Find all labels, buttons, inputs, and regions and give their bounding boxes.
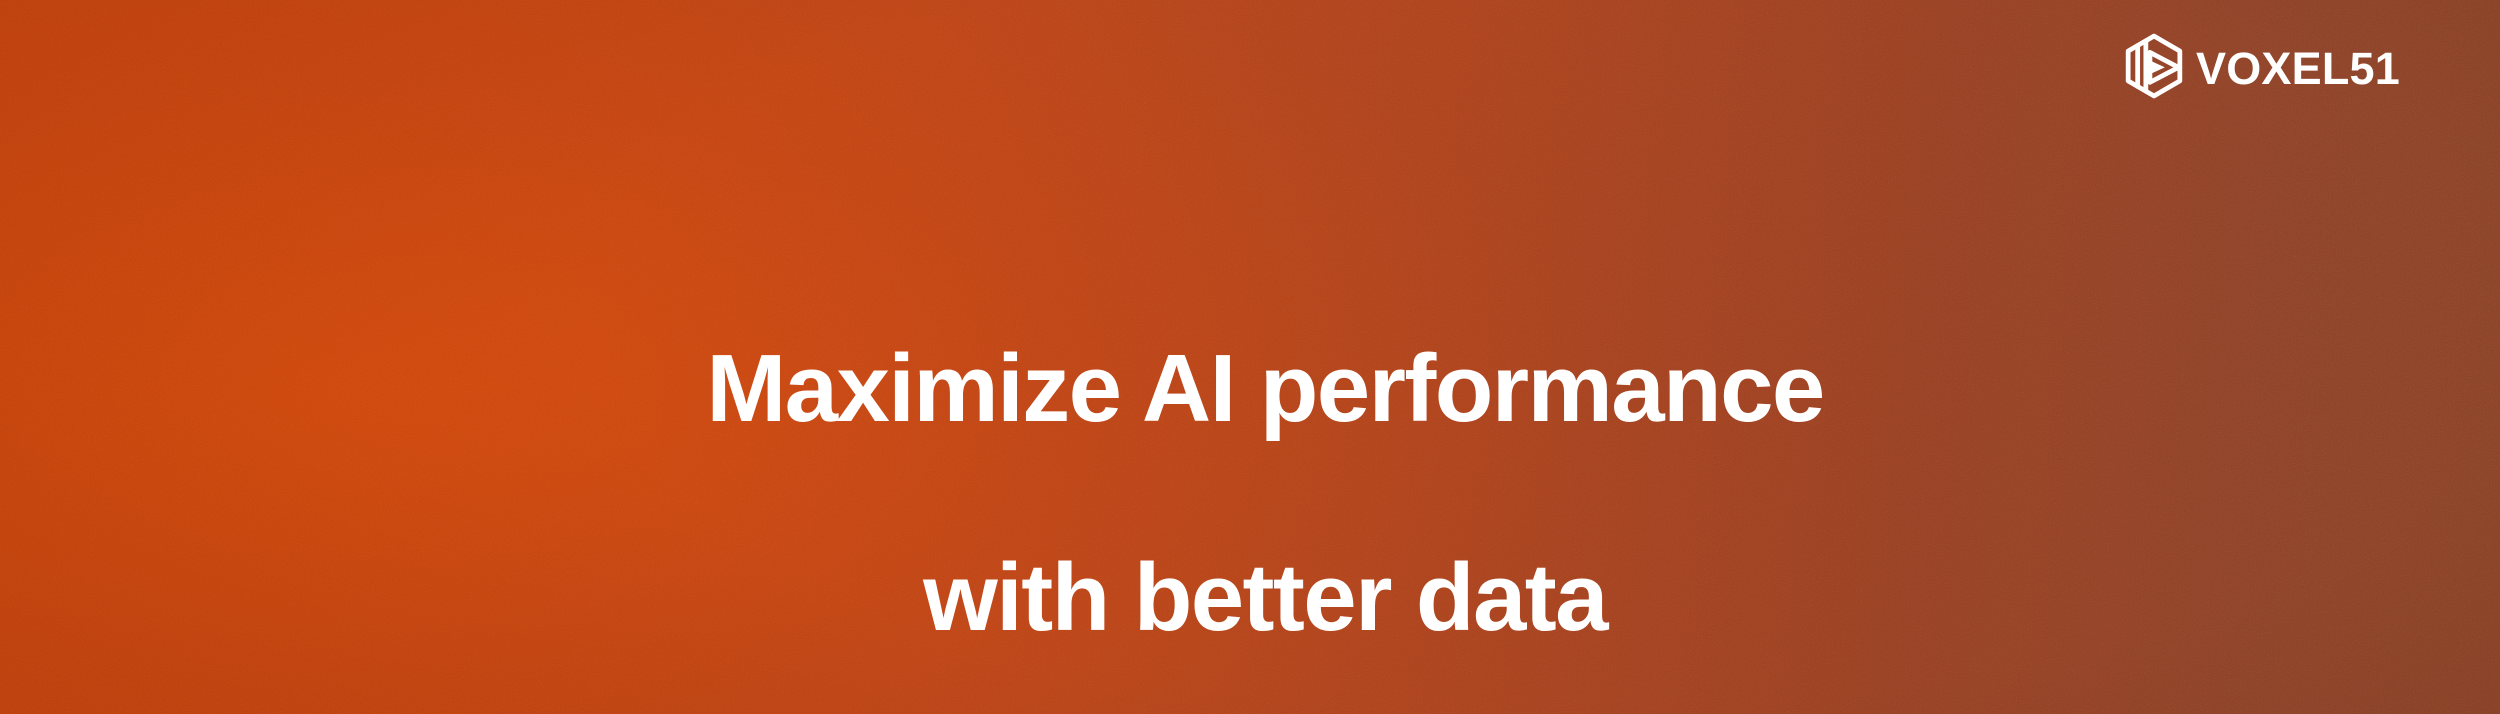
- headline: Maximize AI performance with better data: [0, 232, 2500, 714]
- headline-line-1: Maximize AI performance: [0, 337, 2500, 442]
- headline-line-2: with better data: [0, 546, 2500, 651]
- voxel51-wordmark: VOXEL51: [2196, 46, 2400, 91]
- voxel51-hexagon-cube-icon: [2120, 32, 2188, 100]
- brand-logo-lockup[interactable]: VOXEL51: [2120, 30, 2400, 102]
- promo-banner: VOXEL51 Maximize AI performance with bet…: [0, 0, 2500, 714]
